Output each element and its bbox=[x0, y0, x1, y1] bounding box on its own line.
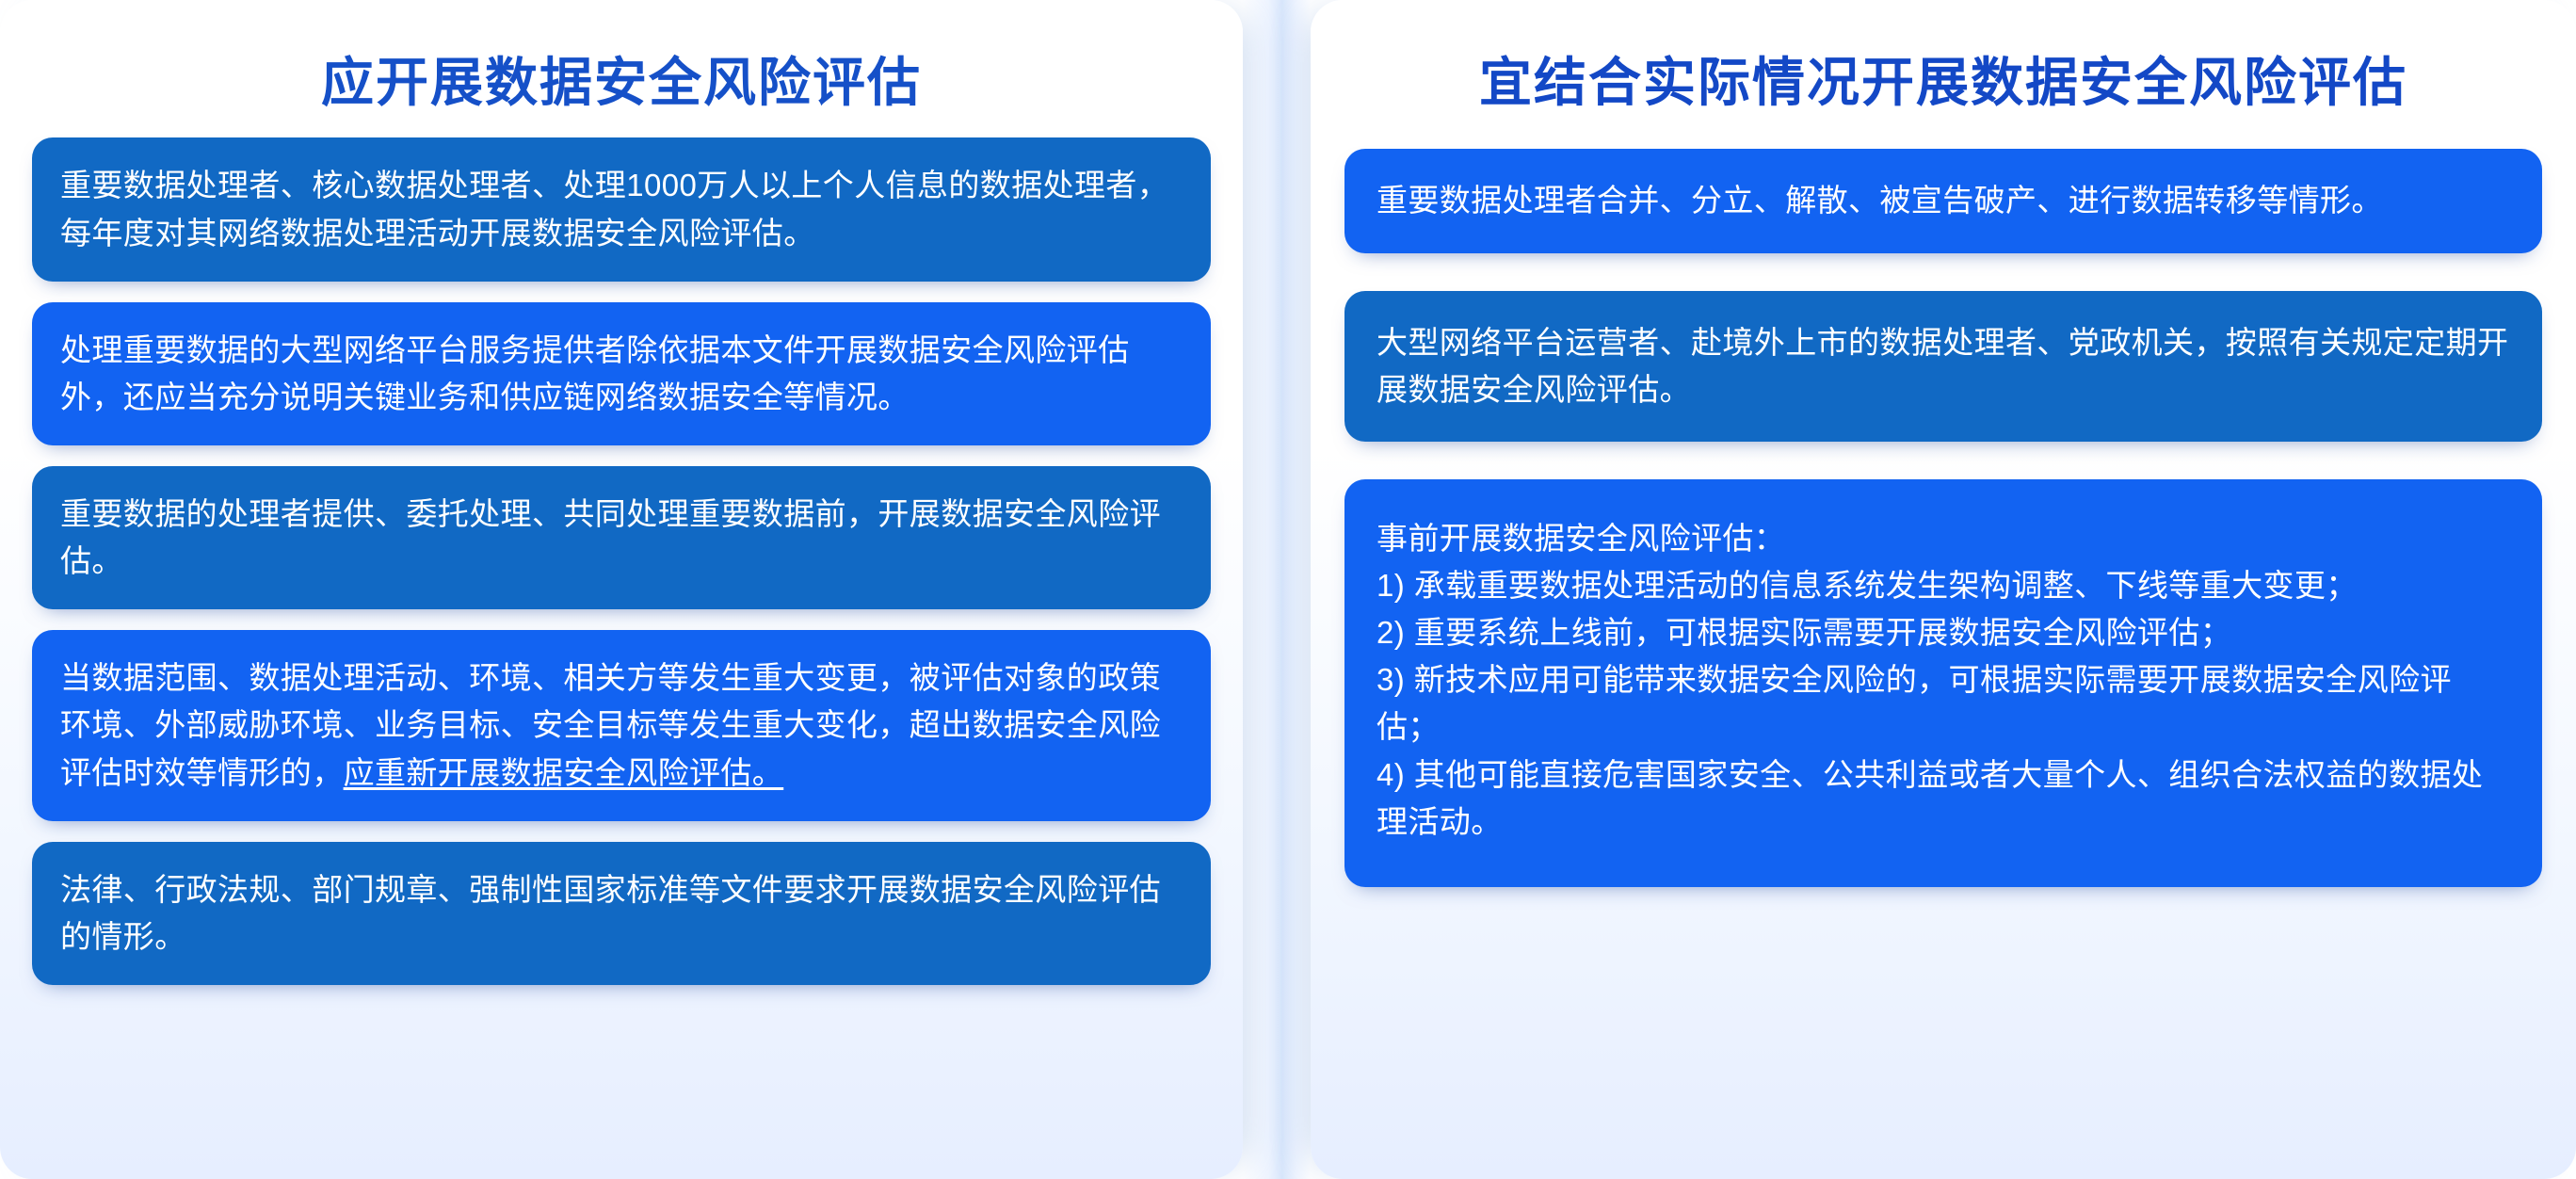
card-merger-split-dissolution: 重要数据处理者合并、分立、解散、被宣告破产、进行数据转移等情形。 bbox=[1344, 149, 2542, 252]
card-annual-assessment-text: 重要数据处理者、核心数据处理者、处理1000万人以上个人信息的数据处理者，每年度… bbox=[60, 162, 1183, 256]
left-panel-card-list: 重要数据处理者、核心数据处理者、处理1000万人以上个人信息的数据处理者，每年度… bbox=[26, 137, 1216, 985]
left-panel: 应开展数据安全风险评估 重要数据处理者、核心数据处理者、处理1000万人以上个人… bbox=[0, 0, 1243, 1179]
right-panel-title: 宜结合实际情况开展数据安全风险评估 bbox=[1339, 53, 2548, 113]
left-panel-title: 应开展数据安全风险评估 bbox=[26, 53, 1216, 113]
infographic-board: 应开展数据安全风险评估 重要数据处理者、核心数据处理者、处理1000万人以上个人… bbox=[0, 0, 2576, 1179]
card-advance-assessment-item-2: 2) 重要系统上线前，可根据实际需要开展数据安全风险评估； bbox=[1377, 609, 2510, 656]
card-large-platform-supplement-text: 处理重要数据的大型网络平台服务提供者除依据本文件开展数据安全风险评估外，还应当充… bbox=[60, 327, 1183, 421]
panel-divider bbox=[1243, 0, 1311, 1179]
card-before-sharing-important-data-text: 重要数据的处理者提供、委托处理、共同处理重要数据前，开展数据安全风险评估。 bbox=[60, 491, 1183, 585]
card-legal-requirement: 法律、行政法规、部门规章、强制性国家标准等文件要求开展数据安全风险评估的情形。 bbox=[32, 842, 1211, 985]
card-before-sharing-important-data: 重要数据的处理者提供、委托处理、共同处理重要数据前，开展数据安全风险评估。 bbox=[32, 466, 1211, 609]
card-periodic-assessment-text: 大型网络平台运营者、赴境外上市的数据处理者、党政机关，按照有关规定定期开展数据安… bbox=[1377, 319, 2510, 413]
card-advance-assessment-list: 事前开展数据安全风险评估： 1) 承载重要数据处理活动的信息系统发生架构调整、下… bbox=[1344, 479, 2542, 887]
card-annual-assessment: 重要数据处理者、核心数据处理者、处理1000万人以上个人信息的数据处理者，每年度… bbox=[32, 137, 1211, 281]
card-major-change-reassessment-emphasis: 应重新开展数据安全风险评估。 bbox=[344, 755, 784, 790]
right-panel: 宜结合实际情况开展数据安全风险评估 重要数据处理者合并、分立、解散、被宣告破产、… bbox=[1311, 0, 2576, 1179]
card-large-platform-supplement: 处理重要数据的大型网络平台服务提供者除依据本文件开展数据安全风险评估外，还应当充… bbox=[32, 302, 1211, 445]
right-panel-card-list: 重要数据处理者合并、分立、解散、被宣告破产、进行数据转移等情形。 大型网络平台运… bbox=[1339, 137, 2548, 887]
card-advance-assessment-item-1: 1) 承载重要数据处理活动的信息系统发生架构调整、下线等重大变更； bbox=[1377, 562, 2510, 609]
card-legal-requirement-text: 法律、行政法规、部门规章、强制性国家标准等文件要求开展数据安全风险评估的情形。 bbox=[60, 866, 1183, 961]
card-advance-assessment-heading: 事前开展数据安全风险评估： bbox=[1377, 515, 2510, 562]
card-advance-assessment-item-3: 3) 新技术应用可能带来数据安全风险的，可根据实际需要开展数据安全风险评估； bbox=[1377, 656, 2510, 751]
card-periodic-assessment: 大型网络平台运营者、赴境外上市的数据处理者、党政机关，按照有关规定定期开展数据安… bbox=[1344, 291, 2542, 442]
card-major-change-reassessment: 当数据范围、数据处理活动、环境、相关方等发生重大变更，被评估对象的政策环境、外部… bbox=[32, 630, 1211, 820]
card-advance-assessment-item-4: 4) 其他可能直接危害国家安全、公共利益或者大量个人、组织合法权益的数据处理活动… bbox=[1377, 751, 2510, 846]
card-merger-split-dissolution-text: 重要数据处理者合并、分立、解散、被宣告破产、进行数据转移等情形。 bbox=[1377, 177, 2510, 224]
